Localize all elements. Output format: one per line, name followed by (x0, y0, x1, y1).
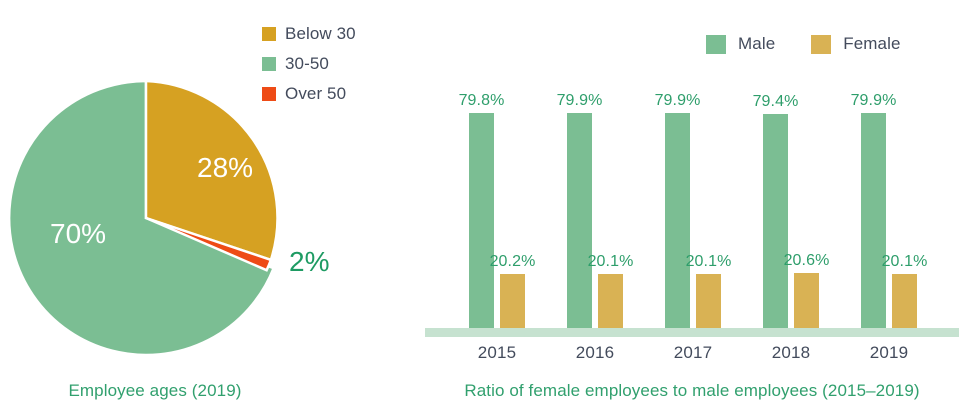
legend-swatch-30-50-icon (262, 57, 276, 71)
pie-legend-label-below-30: Below 30 (285, 24, 356, 44)
bar-male-2016[interactable] (567, 113, 592, 328)
bar-chart-caption: Ratio of female employees to male employ… (420, 381, 964, 401)
x-tick-label-2016: 2016 (576, 343, 615, 363)
bar-value-male-2019: 79.9% (851, 92, 897, 110)
x-tick-label-2019: 2019 (870, 343, 909, 363)
x-tick-label-2015: 2015 (478, 343, 517, 363)
pie-label-30-50: 70% (50, 218, 106, 250)
bar-female-2019[interactable] (892, 274, 917, 328)
bar-chart-panel: Male Female 79.8%20.2%201579.9%20.1%2016… (420, 0, 964, 412)
pie-legend: Below 30 30-50 Over 50 (262, 20, 412, 110)
x-tick-label-2017: 2017 (674, 343, 713, 363)
bar-male-2019[interactable] (861, 113, 886, 328)
legend-swatch-below-30-icon (262, 27, 276, 41)
bar-female-2016[interactable] (598, 274, 623, 328)
bars-layer: 79.8%20.2%201579.9%20.1%201679.9%20.1%20… (420, 0, 964, 412)
figure-root: 28% 70% 2% Below 30 30-50 Over 50 Employ… (0, 0, 964, 412)
pie-legend-item-below-30[interactable]: Below 30 (262, 20, 412, 48)
legend-swatch-over-50-icon (262, 87, 276, 101)
bar-value-female-2018: 20.6% (784, 252, 830, 270)
bar-value-male-2017: 79.9% (655, 92, 701, 110)
pie-legend-item-over-50[interactable]: Over 50 (262, 80, 412, 108)
bar-female-2015[interactable] (500, 274, 525, 328)
pie-label-over-50: 2% (289, 246, 329, 278)
bar-male-2017[interactable] (665, 113, 690, 328)
bar-value-male-2015: 79.8% (459, 92, 505, 110)
pie-label-below-30: 28% (197, 152, 253, 184)
bar-female-2017[interactable] (696, 274, 721, 328)
bar-plot-area: 79.8%20.2%201579.9%20.1%201679.9%20.1%20… (420, 0, 964, 412)
bar-value-female-2015: 20.2% (490, 253, 536, 271)
pie-legend-label-30-50: 30-50 (285, 54, 329, 74)
bar-male-2015[interactable] (469, 113, 494, 328)
x-tick-label-2018: 2018 (772, 343, 811, 363)
bar-female-2018[interactable] (794, 273, 819, 328)
bar-value-male-2016: 79.9% (557, 92, 603, 110)
bar-male-2018[interactable] (763, 114, 788, 328)
bar-value-female-2016: 20.1% (588, 253, 634, 271)
bar-value-female-2019: 20.1% (882, 253, 928, 271)
pie-chart-panel: 28% 70% 2% Below 30 30-50 Over 50 Employ… (0, 0, 420, 412)
bar-value-male-2018: 79.4% (753, 93, 799, 111)
pie-chart-caption: Employee ages (2019) (0, 381, 310, 401)
bar-value-female-2017: 20.1% (686, 253, 732, 271)
pie-legend-item-30-50[interactable]: 30-50 (262, 50, 412, 78)
pie-legend-label-over-50: Over 50 (285, 84, 346, 104)
